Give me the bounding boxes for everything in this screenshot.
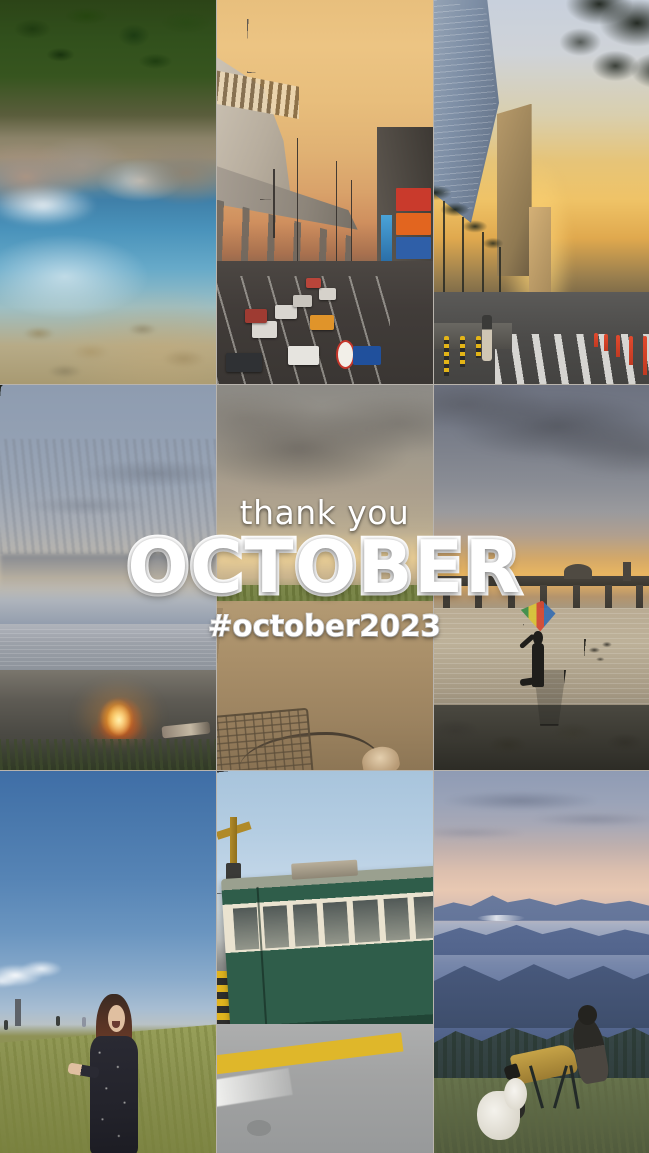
- sea-shimmer: [0, 628, 216, 667]
- photo-cell-3[interactable]: Downtown boulevard with skyscrapers, pal…: [434, 0, 649, 384]
- tree-canopy: [529, 0, 649, 223]
- bicycle-basket: [217, 708, 314, 770]
- woman-floral-dress: [90, 1036, 138, 1153]
- water-foam: [0, 184, 99, 226]
- blue-direction-sign: [353, 346, 381, 365]
- foreground-grass: [0, 739, 216, 770]
- traffic-cars: [217, 0, 433, 384]
- dusk-clouds: [434, 779, 649, 863]
- mackerel-clouds: [0, 439, 216, 555]
- fern-foliage: [0, 0, 216, 161]
- photo-cell-2[interactable]: City street at sunset with elevated rail…: [217, 0, 433, 384]
- photo-cell-6[interactable]: Person in a camp chair flying a kite by …: [434, 385, 649, 770]
- manhole-cover: [247, 1120, 271, 1135]
- poodle-head: [504, 1078, 527, 1110]
- bridge-deck: [434, 576, 649, 586]
- woman-face: [108, 1005, 125, 1032]
- photo-cell-9[interactable]: Camper reclining with a white poodle abo…: [434, 771, 649, 1153]
- woman-smile: [112, 1021, 121, 1027]
- photo-cell-7[interactable]: Woman in a dark floral dress on a grassy…: [0, 771, 216, 1153]
- hazard-bollards: [438, 307, 503, 376]
- overhanging-branch: [0, 385, 39, 431]
- no-turn-sign: [336, 340, 355, 369]
- photo-cell-5[interactable]: POV bicycle ride down a dirt road under …: [217, 385, 433, 770]
- photo-cell-1[interactable]: Turquoise jungle stream over mossy rocks…: [0, 0, 216, 384]
- distant-dome: [564, 564, 592, 579]
- woman-figure: [82, 994, 160, 1153]
- red-bollards: [560, 307, 649, 376]
- distant-tower: [623, 562, 632, 581]
- white-poodle: [477, 1078, 529, 1139]
- foreground-plant: [584, 639, 621, 731]
- dark-clouds: [434, 385, 649, 524]
- white-cloud: [0, 951, 78, 997]
- photo-grid: Turquoise jungle stream over mossy rocks…: [0, 0, 649, 1153]
- bonfire-flames: [91, 689, 147, 739]
- horizon-light: [217, 531, 433, 577]
- photo-cell-4[interactable]: Beach bonfire at dusk beside calm sea: [0, 385, 216, 770]
- photo-cell-8[interactable]: Green and cream vintage train passing a …: [217, 771, 433, 1153]
- october-recap-collage: Turquoise jungle stream over mossy rocks…: [0, 0, 649, 1153]
- pedestrian: [482, 315, 492, 361]
- cloud-band: [0, 554, 216, 589]
- riverbed-pebbles: [0, 300, 216, 384]
- kite-flyer-silhouette: [521, 628, 558, 713]
- green-train-car: [221, 865, 433, 1040]
